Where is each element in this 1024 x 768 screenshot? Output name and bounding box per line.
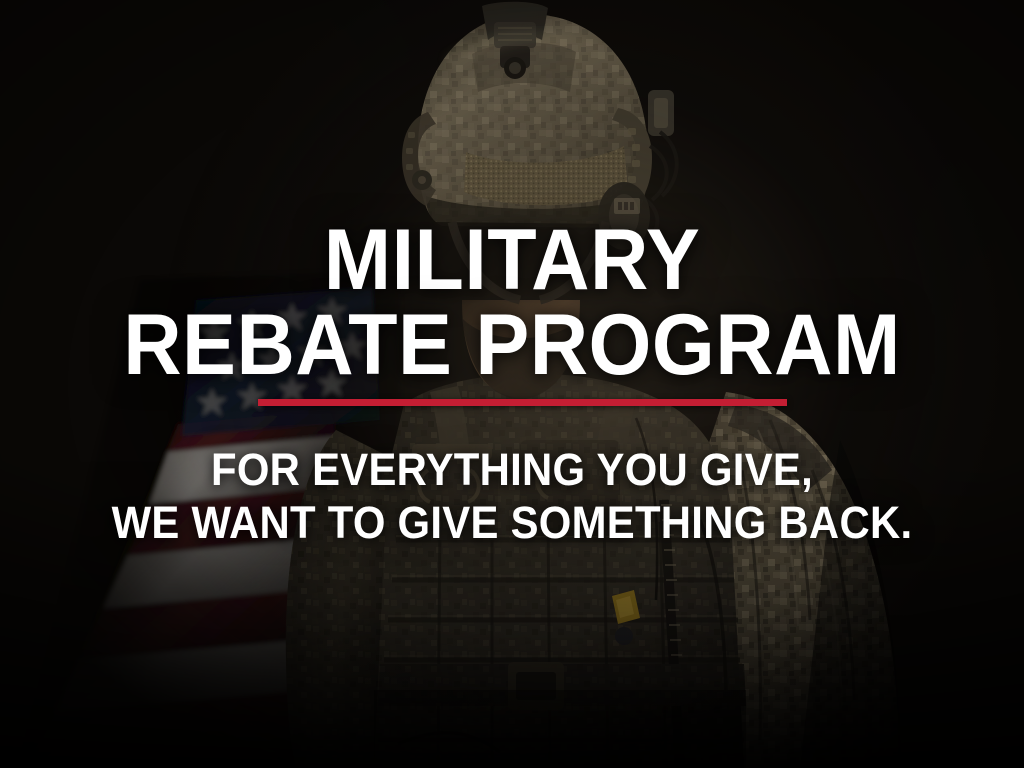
red-divider-rule	[258, 399, 787, 406]
headline-line-1: MILITARY	[31, 219, 994, 302]
subhead-line-1: FOR EVERYTHING YOU GIVE,	[36, 447, 988, 492]
subhead-line-2: WE WANT TO GIVE SOMETHING BACK.	[36, 500, 988, 545]
headline-line-2: REBATE PROGRAM	[31, 304, 994, 387]
promotional-banner: MILITARY REBATE PROGRAM FOR EVERYTHING Y…	[0, 0, 1024, 768]
